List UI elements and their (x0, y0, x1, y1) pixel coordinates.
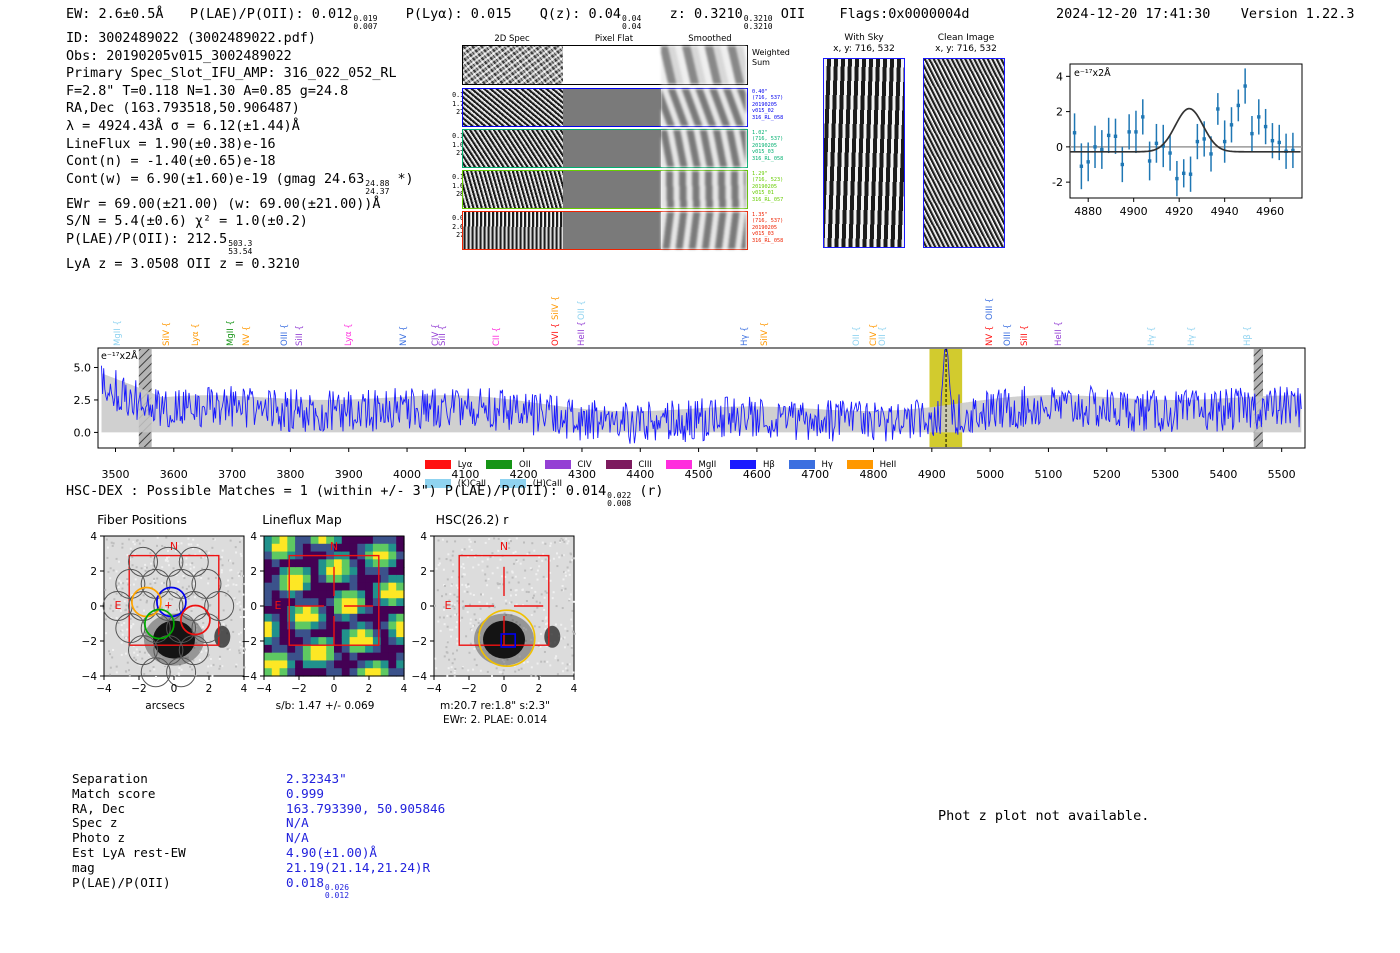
emission-line-label: Hβ { (1243, 292, 1253, 346)
svg-text:4: 4 (420, 532, 427, 543)
match-properties-table: Separation2.32343"Match score0.999RA, De… (72, 772, 445, 900)
emission-line-label: Lyα { (344, 292, 354, 346)
svg-text:2: 2 (1056, 106, 1063, 119)
table-row: Est LyA rest-EW4.90(±1.00)Å (72, 846, 445, 861)
table-row: mag21.19(21.14,21.24)R (72, 861, 445, 876)
svg-text:−2: −2 (82, 636, 97, 648)
emission-line-label: HeII { (1054, 292, 1064, 346)
fiber-smoothed-image (661, 171, 746, 208)
panel-title-2dspec: 2D Spec (462, 34, 562, 44)
fiber-info-line: 316_RL_057 (752, 197, 822, 203)
legend-item: CIII (606, 460, 652, 470)
fiber-smoothed-image (661, 130, 746, 167)
legend-item: Hβ (730, 460, 775, 470)
header-plae-errors: 0.0190.007 (353, 15, 377, 31)
cutout-caption-2: m:20.7 re:1.8" s:2.3" (402, 700, 588, 712)
match-key: Match score (72, 787, 286, 802)
fiber-pixelflat-image (563, 130, 661, 167)
svg-text:+: + (165, 598, 172, 612)
match-value: 4.90(±1.00)Å (286, 846, 445, 861)
emission-line-label: MgII { (113, 292, 123, 346)
match-value: 21.19(21.14,21.24)R (286, 861, 445, 876)
svg-text:−4: −4 (412, 671, 428, 683)
emission-line-label: SiII { (438, 292, 448, 346)
cutout-caption-2: EWr: 2. PLAE: 0.014 (402, 714, 588, 726)
legend-item: CIV (545, 460, 592, 470)
header-flags: Flags:0x0000004d (839, 6, 969, 22)
spectrum-x-tick: 3900 (327, 468, 371, 481)
fiber-pixelflat-image (563, 89, 661, 126)
legend-item: Hγ (789, 460, 833, 470)
emission-line-label: CIV { (869, 292, 879, 346)
emission-line-label: OIII { (280, 292, 290, 346)
info-cont-w: Cont(w) = 6.90(±1.60)e-19 (gmag 24.6324.… (66, 171, 414, 196)
hscdex-plae-errors: 0.0220.008 (607, 492, 631, 508)
fiber-row-2 (462, 170, 748, 209)
version-label: Version 1.22.3 (1241, 6, 1355, 22)
spectrum-x-tick: 5000 (968, 468, 1012, 481)
spectrum-x-tick: 5100 (1026, 468, 1070, 481)
fiber-smoothed-image (661, 89, 746, 126)
match-key: Photo z (72, 831, 286, 846)
emission-line-label: SiIV { (760, 292, 770, 346)
emission-line-label: Hγ { (1147, 292, 1157, 346)
spectrum-x-tick: 5500 (1260, 468, 1304, 481)
svg-text:4900: 4900 (1120, 205, 1148, 218)
legend-swatch (486, 460, 512, 469)
emission-line-label: CII { (492, 292, 502, 346)
svg-text:−2: −2 (131, 683, 146, 695)
spec2d-fiber-rows: 0.161.702790.40"(716, 537)20190205v015_0… (436, 88, 766, 254)
svg-text:0: 0 (1056, 141, 1063, 154)
legend-swatch (847, 460, 873, 469)
info-redshifts: LyA z = 3.0508 OII z = 0.3210 (66, 256, 414, 274)
match-value: N/A (286, 831, 445, 846)
svg-text:4: 4 (90, 532, 97, 543)
clean-image-image (923, 58, 1005, 248)
header-qz: Q(z): 0.04 (540, 6, 621, 22)
header-z-line: OII (781, 6, 805, 22)
svg-text:2: 2 (420, 566, 427, 578)
weighted-sum-label: Weighted Sum (752, 48, 790, 68)
line-profile-plot: -202448804900492049404960e⁻¹⁷x2Å (1040, 52, 1308, 228)
emission-line-label: OII { (878, 292, 888, 346)
line-profile-svg: -202448804900492049404960e⁻¹⁷x2Å (1040, 52, 1308, 228)
legend-swatch (545, 460, 571, 469)
with-sky-image (823, 58, 905, 248)
info-id: ID: 3002489022 (3002489022.pdf) (66, 30, 414, 48)
match-key: Spec z (72, 816, 286, 831)
fiber-2dspec-image (463, 130, 563, 167)
emission-line-label: SiIV { (551, 266, 561, 320)
svg-text:−2: −2 (461, 683, 476, 695)
legend-label: Lyα (455, 460, 472, 470)
spectrum-x-tick: 3800 (268, 468, 312, 481)
emission-line-label: SiII { (295, 292, 305, 346)
svg-text:E: E (275, 599, 282, 612)
table-row: Spec zN/A (72, 816, 445, 831)
match-key: mag (72, 861, 286, 876)
match-value: 163.793390, 50.905846 (286, 802, 445, 817)
legend-label: MgII (696, 460, 716, 470)
fiber-info-line: 316_RL_058 (752, 238, 822, 244)
info-ewr: EWr = 69.00(±21.00) (w: 69.00(±21.00))Å (66, 196, 414, 214)
emission-line-label: OII { (577, 266, 587, 320)
svg-text:4: 4 (250, 532, 257, 543)
emission-line-label: OII { (852, 292, 862, 346)
fiber-2dspec-image (463, 171, 563, 208)
info-plae: P(LAE)/P(OII): 212.5503.353.54 (66, 231, 414, 256)
svg-text:−4: −4 (256, 683, 272, 695)
fiber-smoothed-image (661, 212, 746, 249)
legend-swatch (606, 460, 632, 469)
svg-text:0: 0 (90, 601, 97, 613)
legend-label: OII (516, 460, 530, 470)
svg-text:e⁻¹⁷x2Å: e⁻¹⁷x2Å (1074, 67, 1111, 79)
fiber-info-line: 316_RL_058 (752, 156, 822, 162)
fiber-2dspec-image (463, 212, 563, 249)
svg-text:0: 0 (331, 683, 338, 695)
header-summary-line: EW: 2.6±0.5Å P(LAE)/P(OII): 0.0120.0190.… (66, 6, 969, 31)
info-plae-errors: 503.353.54 (228, 240, 252, 256)
legend-label: CIII (636, 460, 652, 470)
legend-label: CIV (575, 460, 592, 470)
match-key: Est LyA rest-EW (72, 846, 286, 861)
with-sky-label: With Skyx, y: 716, 532 (820, 33, 908, 55)
svg-text:0: 0 (501, 683, 508, 695)
legend-swatch (789, 460, 815, 469)
svg-text:4960: 4960 (1256, 205, 1284, 218)
emission-line-label: SiIV { (162, 292, 172, 346)
svg-text:4920: 4920 (1165, 205, 1193, 218)
legend-item: HeII (847, 460, 896, 470)
legend-swatch (425, 460, 451, 469)
info-gmag-errors: 24.8824.37 (365, 180, 389, 196)
emission-line-label: Hγ { (740, 292, 750, 346)
header-timestamp-version: 2024-12-20 17:41:30 Version 1.22.3 (1056, 6, 1355, 22)
info-radec: RA,Dec (163.793518,50.906487) (66, 100, 414, 118)
legend-swatch (666, 460, 692, 469)
svg-text:4940: 4940 (1211, 205, 1239, 218)
legend-label: Hγ (819, 460, 833, 470)
spectrum-x-tick: 3600 (152, 468, 196, 481)
match-key: P(LAE)/P(OII) (72, 876, 286, 900)
fiber-pixelflat-image (563, 212, 661, 249)
fiber-row-0 (462, 88, 748, 127)
spectrum-x-tick: 5300 (1143, 468, 1187, 481)
spectrum-legend: Lyα OII CIV CIII MgII Hβ Hγ HeII (K)CaII… (425, 452, 985, 466)
svg-text:4: 4 (1056, 70, 1063, 83)
svg-text:−2: −2 (412, 636, 427, 648)
info-obs: Obs: 20190205v015_3002489022 (66, 48, 414, 66)
info-sn-chi2: S/N = 5.4(±0.6) χ² = 1.0(±0.2) (66, 213, 414, 231)
hscdex-header: HSC-DEX : Possible Matches = 1 (within +… (66, 484, 664, 508)
svg-text:N: N (500, 540, 508, 553)
emission-line-label: Hγ { (1187, 292, 1197, 346)
fiber-info-1: 1.02"(716, 537)20190205v015_03316_RL_058 (752, 130, 822, 162)
spectrum-x-tick: 4900 (910, 468, 954, 481)
match-value: 2.32343" (286, 772, 445, 787)
spectrum-x-tick: 5200 (1085, 468, 1129, 481)
svg-text:N: N (330, 540, 338, 553)
full-spectrum-plot: MgII {SiIV {Lyα {MgII {NV {OIII {SiII {L… (60, 278, 1340, 478)
fiber-pixelflat-image (563, 171, 661, 208)
svg-text:5.0: 5.0 (74, 361, 92, 374)
header-plae-label: P(LAE)/P(OII): (190, 6, 304, 22)
legend-item: OII (486, 460, 530, 470)
emission-line-label: OIII { (1003, 292, 1013, 346)
svg-text:−2: −2 (242, 636, 257, 648)
cutout-panels: Fiber PositionsNE+420−2−4−4−2024arcsecsL… (30, 512, 650, 722)
fiber-info-2: 1.29"(716, 523)20190205v015_01316_RL_057 (752, 171, 822, 203)
svg-text:−2: −2 (291, 683, 306, 695)
cutout-title-2: HSC(26.2) r (392, 512, 552, 527)
spec2d-weighted-sum-row (462, 45, 748, 85)
svg-text:−4: −4 (96, 683, 112, 695)
svg-text:2: 2 (366, 683, 373, 695)
legend-item: MgII (666, 460, 716, 470)
fiber-info-0: 0.40"(716, 537)20190205v015_02316_RL_058 (752, 89, 822, 121)
svg-text:-2: -2 (1052, 176, 1063, 189)
header-plae-value: 0.012 (312, 6, 353, 22)
sky-cutouts: With Skyx, y: 716, 532 Clean Imagex, y: … (820, 33, 1010, 248)
spec2d-montage: 2D Spec Pixel Flat Smoothed Weighted Sum… (436, 34, 766, 254)
svg-text:−4: −4 (82, 671, 98, 683)
svg-text:0.0: 0.0 (74, 426, 92, 439)
svg-text:2: 2 (536, 683, 543, 695)
svg-text:0: 0 (250, 601, 257, 613)
legend-label: HeII (877, 460, 896, 470)
table-row: Photo zN/A (72, 831, 445, 846)
emission-line-label: Lyα { (191, 292, 201, 346)
emission-line-labels: MgII {SiIV {Lyα {MgII {NV {OIII {SiII {L… (60, 278, 1340, 346)
cutout-title-1: Lineflux Map (222, 512, 382, 527)
svg-text:e⁻¹⁷x2Å: e⁻¹⁷x2Å (101, 350, 138, 362)
match-plae-errors: 0.0260.012 (325, 884, 349, 900)
svg-text:E: E (115, 599, 122, 612)
emission-line-label: MgII { (226, 292, 236, 346)
fiber-info-3: 1.35"(716, 537)20190205v015_03316_RL_058 (752, 212, 822, 244)
info-seeing: F=2.8" T=0.118 N=1.30 A=0.85 g=24.8 (66, 83, 414, 101)
panel-title-pixelflat: Pixel Flat (564, 34, 664, 44)
cutout-svg-1[interactable]: NE420−2−4−4−2024 (232, 532, 418, 718)
emission-line-label: SiII { (1020, 292, 1030, 346)
svg-text:2.5: 2.5 (74, 394, 92, 407)
match-key: RA, Dec (72, 802, 286, 817)
legend-item: Lyα (425, 460, 472, 470)
info-wavelength: λ = 4924.43Å σ = 6.12(±1.44)Å (66, 118, 414, 136)
match-key: Separation (72, 772, 286, 787)
match-value: 0.999 (286, 787, 445, 802)
table-row: RA, Dec163.793390, 50.905846 (72, 802, 445, 817)
header-z: z: 0.3210 (670, 6, 743, 22)
photz-note: Phot z plot not available. (938, 808, 1149, 824)
header-plya: P(Lyα): 0.015 (406, 6, 512, 22)
spectrum-x-ticks: 3500360037003800390040004100420043004400… (60, 468, 1340, 484)
svg-text:N: N (170, 540, 178, 553)
fiber-row-3 (462, 211, 748, 250)
svg-text:2: 2 (250, 566, 257, 578)
source-info-block: ID: 3002489022 (3002489022.pdf) Obs: 201… (66, 30, 414, 274)
info-primary-spec: Primary Spec_Slot_IFU_AMP: 316_022_052_R… (66, 65, 414, 83)
legend-swatch (730, 460, 756, 469)
match-value: N/A (286, 816, 445, 831)
info-lineflux: LineFlux = 1.90(±0.38)e-16 (66, 136, 414, 154)
table-row: Match score0.999 (72, 787, 445, 802)
emission-line-label: NV { (242, 292, 252, 346)
header-z-errors: 0.32100.3210 (744, 15, 773, 31)
header-qz-errors: 0.040.04 (622, 15, 641, 31)
table-row: P(LAE)/P(OII)0.0180.0260.012 (72, 876, 445, 900)
emission-line-label: OIII { (985, 266, 995, 320)
svg-text:E: E (445, 599, 452, 612)
fiber-2dspec-image (463, 89, 563, 126)
fiber-row-1 (462, 129, 748, 168)
clean-image-label: Clean Imagex, y: 716, 532 (920, 33, 1012, 55)
svg-text:0: 0 (420, 601, 427, 613)
cutout-title-0: Fiber Positions (62, 512, 222, 527)
panel-title-smoothed: Smoothed (662, 34, 758, 44)
emission-line-label: NV { (399, 292, 409, 346)
svg-text:2: 2 (206, 683, 213, 695)
info-cont-n: Cont(n) = -1.40(±0.65)e-18 (66, 153, 414, 171)
header-ew: EW: 2.6±0.5Å (66, 6, 164, 22)
timestamp: 2024-12-20 17:41:30 (1056, 6, 1210, 22)
spectrum-x-tick: 3500 (93, 468, 137, 481)
svg-text:−4: −4 (426, 683, 442, 695)
svg-text:4880: 4880 (1074, 205, 1102, 218)
legend-label: Hβ (760, 460, 775, 470)
match-value: 0.0180.0260.012 (286, 876, 445, 900)
table-row: Separation2.32343" (72, 772, 445, 787)
cutout-svg-0[interactable]: NE+420−2−4−4−2024 (72, 532, 258, 718)
cutout-svg-2[interactable]: NE420−2−4−4−2024 (402, 532, 588, 718)
spectrum-x-tick: 3700 (210, 468, 254, 481)
fiber-info-line: 316_RL_058 (752, 115, 822, 121)
svg-text:0: 0 (171, 683, 178, 695)
svg-text:−4: −4 (242, 671, 258, 683)
cutout-xlabel-0: arcsecs (72, 700, 258, 712)
svg-text:4: 4 (571, 683, 578, 695)
svg-text:2: 2 (90, 566, 97, 578)
cutout-caption-1: s/b: 1.47 +/- 0.069 (232, 700, 418, 712)
spectrum-x-tick: 4000 (385, 468, 429, 481)
spectrum-x-tick: 5400 (1201, 468, 1245, 481)
